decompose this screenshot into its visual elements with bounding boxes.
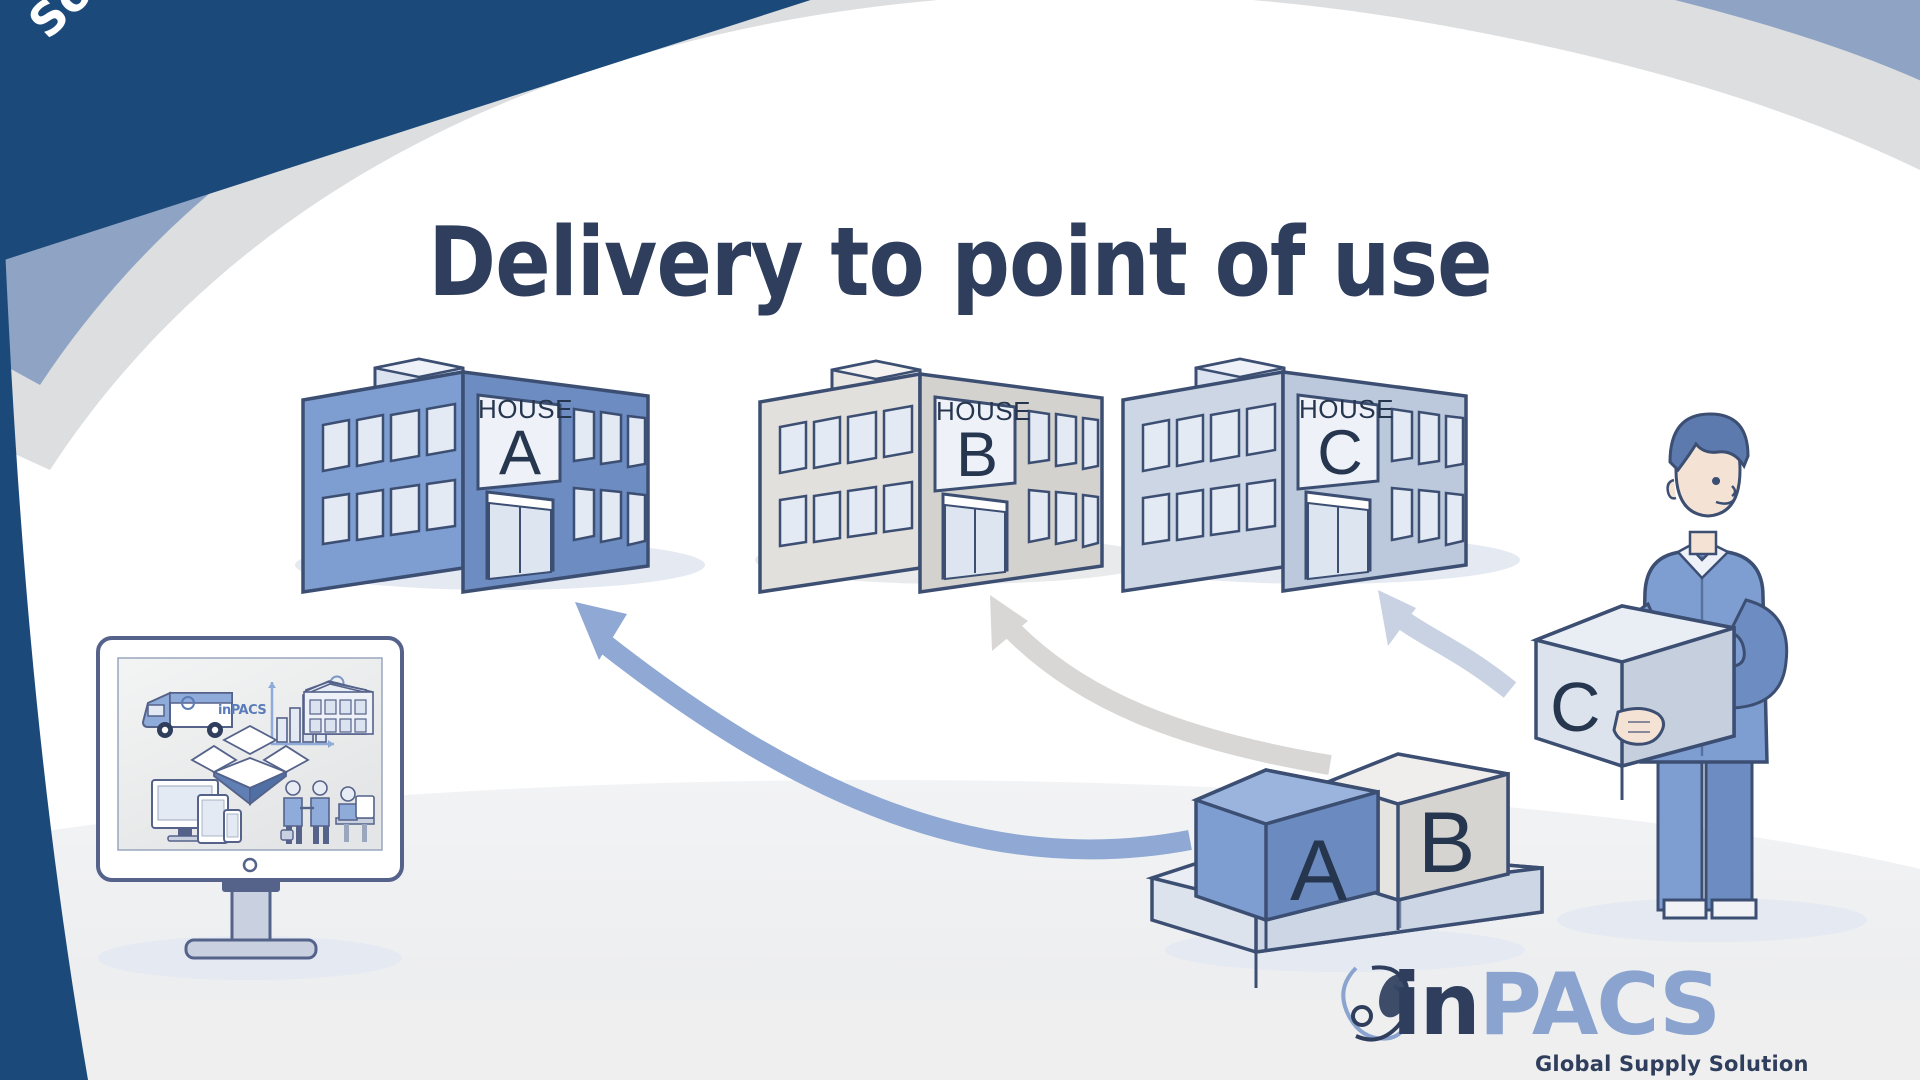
slide-canvas: C: [0, 0, 1920, 1080]
illustration-canvas: C: [0, 0, 1920, 1080]
logo-wordmark: inPACS: [1392, 962, 1719, 1048]
house-a[interactable]: [295, 359, 705, 592]
screen-truck-logo-label: inPACS: [218, 703, 266, 718]
logo-pacs-text: PACS: [1479, 955, 1719, 1055]
logo-in-text: in: [1392, 955, 1479, 1055]
page-title: Delivery to point of use: [134, 208, 1785, 318]
house-c[interactable]: [1120, 359, 1520, 591]
house-b[interactable]: [755, 361, 1155, 592]
logo-tagline: Global Supply Solution: [1535, 1052, 1809, 1076]
inpacs-logo[interactable]: inPACS Global Supply Solution: [1330, 968, 1890, 1068]
